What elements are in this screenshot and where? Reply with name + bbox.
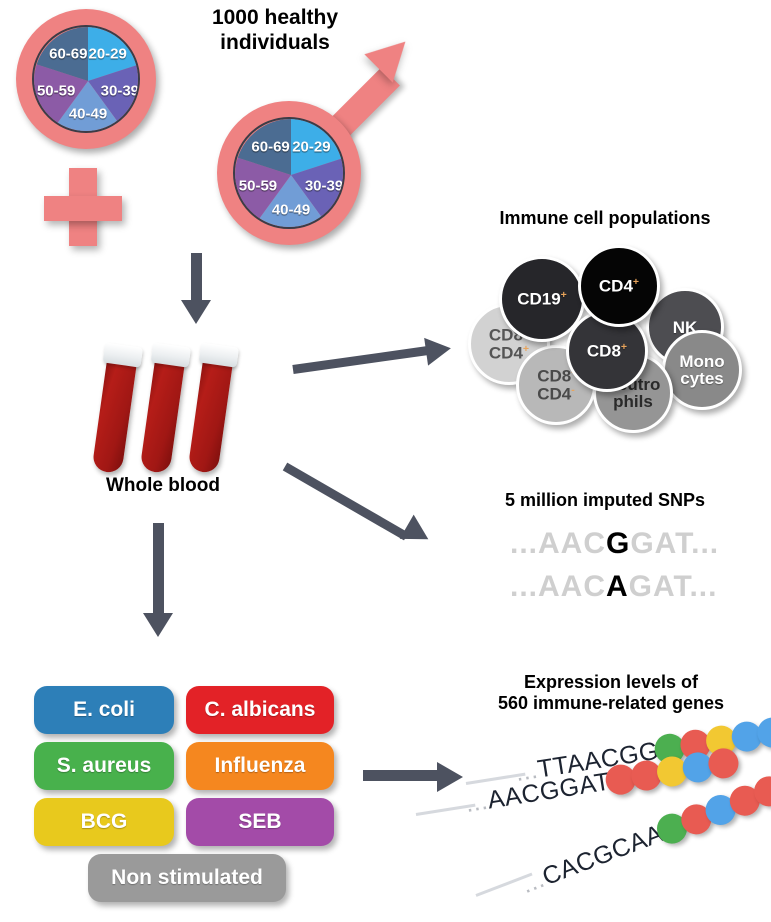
immune-cell-cd4-[interactable]: CD4+ xyxy=(578,245,660,327)
immune-cell-monocytes[interactable]: Monocytes xyxy=(662,330,742,410)
immune-cell-label: CD8-CD4- xyxy=(537,367,575,402)
dna-strand-group: ...TTAACGG...AACGGAT...CACGCAA xyxy=(0,0,771,922)
immune-cell-label: CD19+ xyxy=(517,290,567,308)
immune-cell-label: CD8+ xyxy=(587,342,627,360)
figure-canvas: 20-2930-3940-4950-5960-69 20-2930-3940-4… xyxy=(0,0,771,922)
immune-cell-label: CD4+ xyxy=(599,277,639,295)
dna-sequence-text: ...CACGCAA xyxy=(517,819,667,900)
dna-bead xyxy=(707,746,741,780)
immune-cell-label: Monocytes xyxy=(679,353,724,387)
